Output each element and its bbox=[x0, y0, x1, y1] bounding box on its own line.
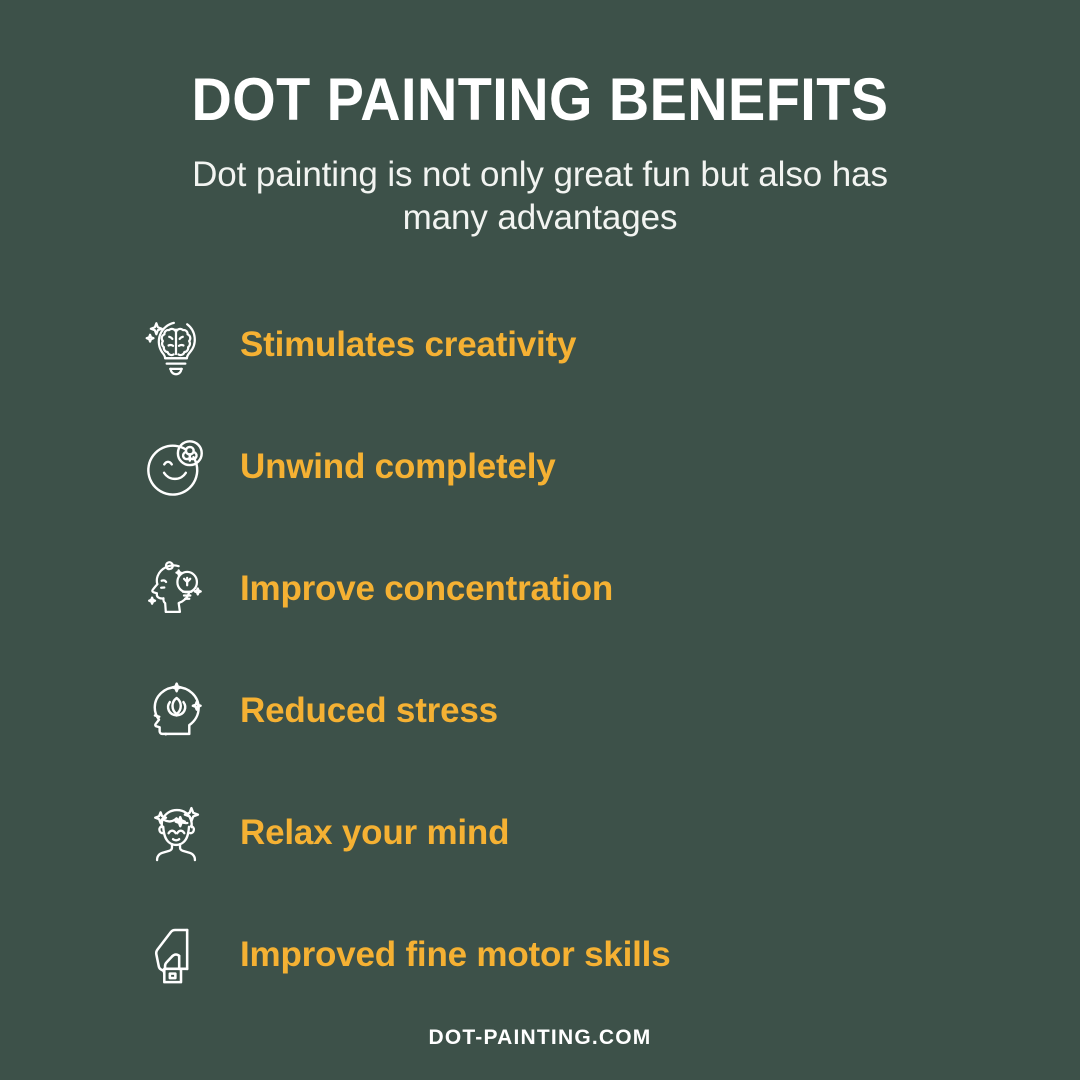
benefit-label: Stimulates creativity bbox=[240, 325, 576, 365]
brain-lightbulb-icon bbox=[140, 309, 212, 381]
calm-face-sparkle-icon bbox=[140, 797, 212, 869]
poster-footer: DOT-PAINTING.COM bbox=[0, 1026, 1080, 1050]
list-item: Unwind completely bbox=[140, 406, 1080, 528]
list-item: Relax your mind bbox=[140, 772, 1080, 894]
benefit-label: Reduced stress bbox=[240, 691, 498, 731]
poster-header: DOT PAINTING BENEFITS Dot painting is no… bbox=[0, 0, 1080, 240]
benefit-label: Improved fine motor skills bbox=[240, 935, 670, 975]
list-item: Improved fine motor skills bbox=[140, 894, 1080, 1016]
page-subtitle: Dot painting is not only great fun but a… bbox=[145, 153, 935, 240]
website-url: DOT-PAINTING.COM bbox=[429, 1026, 652, 1049]
hand-holding-object-icon bbox=[140, 919, 212, 991]
smiley-flower-icon bbox=[140, 431, 212, 503]
benefit-label: Unwind completely bbox=[240, 447, 556, 487]
head-lightbulb-icon bbox=[140, 553, 212, 625]
benefit-label: Improve concentration bbox=[240, 569, 613, 609]
list-item: Stimulates creativity bbox=[140, 284, 1080, 406]
list-item: Improve concentration bbox=[140, 528, 1080, 650]
poster-canvas: DOT PAINTING BENEFITS Dot painting is no… bbox=[0, 0, 1080, 1080]
head-lotus-icon bbox=[140, 675, 212, 747]
benefit-label: Relax your mind bbox=[240, 813, 509, 853]
page-title: DOT PAINTING BENEFITS bbox=[38, 68, 1042, 131]
benefits-list: Stimulates creativity Unwind completely bbox=[0, 284, 1080, 1016]
list-item: Reduced stress bbox=[140, 650, 1080, 772]
